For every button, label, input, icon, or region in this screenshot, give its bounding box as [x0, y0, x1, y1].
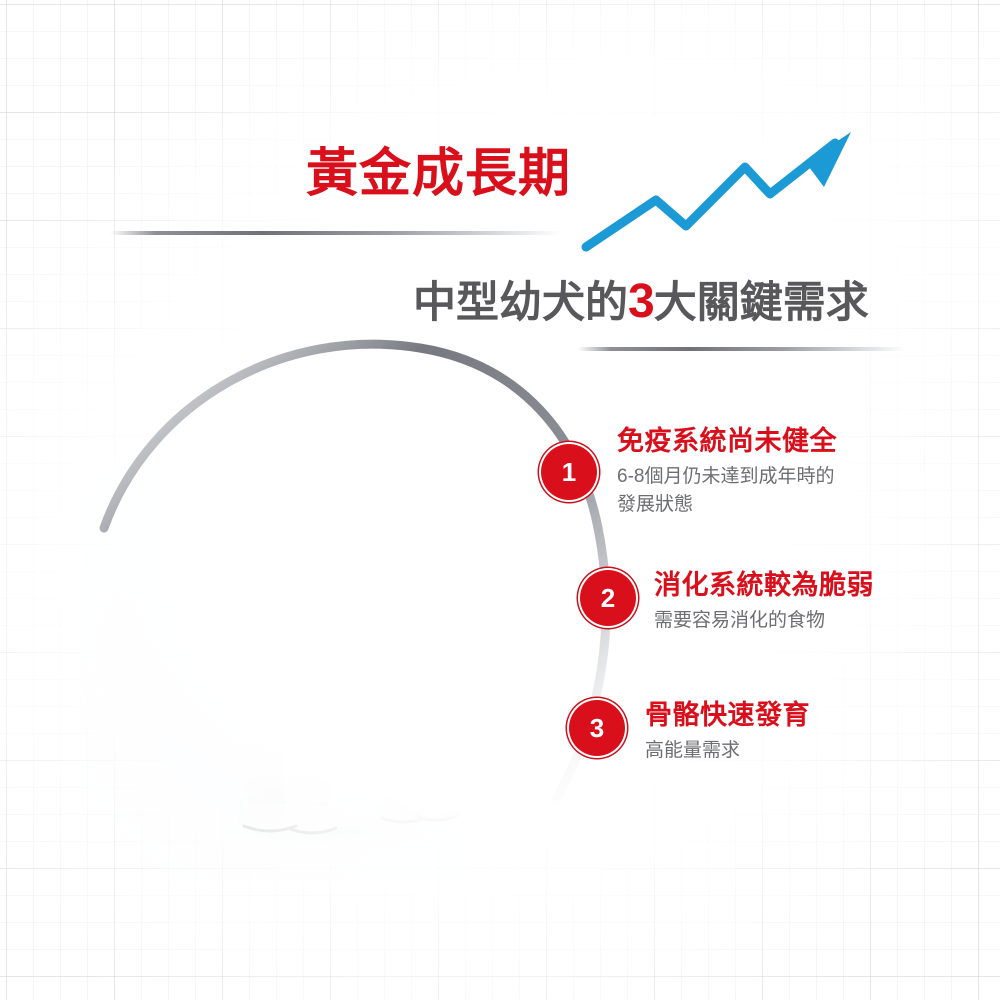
need-heading-2: 消化系統較為脆弱: [654, 572, 874, 599]
subtitle-prefix: 中型幼犬的: [413, 279, 628, 327]
need-heading-3: 骨骼快速發育: [645, 702, 810, 729]
need-heading-1: 免疫系統尚未健全: [617, 428, 837, 455]
page-title: 黃金成長期: [306, 148, 571, 200]
need-body-3: 高能量需求: [645, 737, 740, 765]
infographic-canvas: 黃金成長期 中型幼犬的3大關鍵需求 1 免疫系統尚未健全 6-8個月仍未達到成年…: [0, 0, 1000, 1000]
subtitle-count: 3: [628, 275, 654, 328]
divider-subtitle: [578, 347, 906, 351]
need-marker-2: 2: [580, 570, 636, 626]
need-body-1: 6-8個月仍未達到成年時的 發展狀態: [617, 463, 834, 519]
subtitle-suffix: 大關鍵需求: [654, 279, 869, 327]
need-marker-3: 3: [569, 700, 625, 756]
need-marker-1: 1: [541, 444, 597, 500]
need-body-2: 需要容易消化的食物: [654, 607, 825, 635]
page-subtitle: 中型幼犬的3大關鍵需求: [413, 278, 869, 326]
divider-top: [110, 231, 562, 235]
